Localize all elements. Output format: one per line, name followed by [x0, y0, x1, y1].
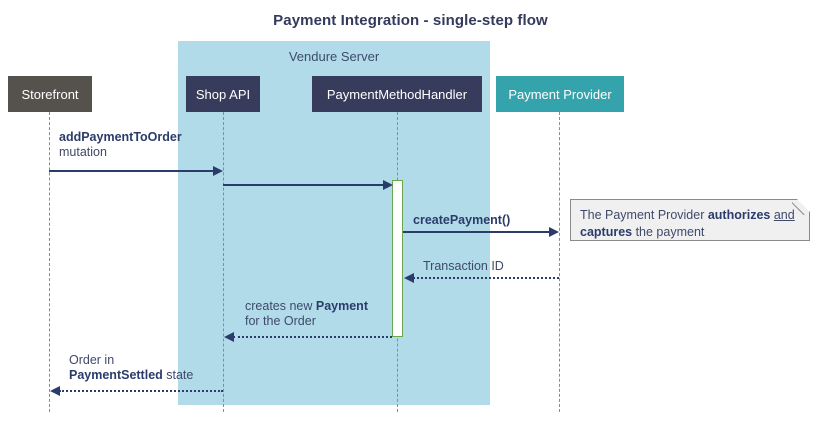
message-label-order-payment-settled: Order inPaymentSettled state — [69, 353, 193, 383]
message-label-line: addPaymentToOrder — [59, 130, 182, 145]
message-label-create-payment: createPayment() — [413, 213, 510, 228]
participant-label: Shop API — [196, 87, 250, 102]
message-line-shop-api-to-handler — [223, 184, 383, 186]
message-label-line: for the Order — [245, 314, 368, 329]
provider-authorizes-note: The Payment Provider authorizes and capt… — [570, 199, 810, 241]
note-text: The Payment Provider authorizes and capt… — [580, 207, 799, 241]
participant-payment-method-handler[interactable]: PaymentMethodHandler — [312, 76, 482, 112]
note-segment: captures — [580, 225, 632, 239]
label-segment: PaymentSettled — [69, 368, 163, 382]
participant-label: Storefront — [21, 87, 78, 102]
diagram-title: Payment Integration - single-step flow — [0, 12, 821, 29]
arrowhead-add-payment-to-order — [213, 166, 223, 176]
label-segment: for the Order — [245, 314, 316, 328]
message-label-line: PaymentSettled state — [69, 368, 193, 383]
lifeline-payment-provider — [559, 112, 560, 412]
participant-shop-api[interactable]: Shop API — [186, 76, 260, 112]
message-line-create-payment — [403, 231, 549, 233]
participant-label: PaymentMethodHandler — [327, 87, 467, 102]
arrowhead-creates-new-payment — [224, 332, 234, 342]
sequence-diagram: Vendure Server addPaymentToOrdermutation… — [0, 0, 821, 422]
message-line-creates-new-payment — [233, 336, 392, 338]
message-label-line: creates new Payment — [245, 299, 368, 314]
label-segment: mutation — [59, 145, 107, 159]
arrowhead-order-payment-settled — [50, 386, 60, 396]
participant-storefront[interactable]: Storefront — [8, 76, 92, 112]
message-label-creates-new-payment: creates new Paymentfor the Order — [245, 299, 368, 329]
message-line-add-payment-to-order — [49, 170, 213, 172]
lifeline-shop-api — [223, 112, 224, 412]
label-segment: Order in — [69, 353, 114, 367]
message-label-line: createPayment() — [413, 213, 510, 228]
label-segment: addPaymentToOrder — [59, 130, 182, 144]
label-segment: Transaction ID — [423, 259, 504, 273]
lifeline-storefront — [49, 112, 50, 412]
message-label-transaction-id: Transaction ID — [423, 259, 504, 274]
group-label-vendure-server: Vendure Server — [178, 49, 490, 64]
participant-payment-provider[interactable]: Payment Provider — [496, 76, 624, 112]
participant-label: Payment Provider — [508, 87, 611, 102]
label-segment: createPayment() — [413, 213, 510, 227]
message-line-order-payment-settled — [59, 390, 223, 392]
arrowhead-transaction-id — [404, 273, 414, 283]
message-line-transaction-id — [413, 277, 559, 279]
arrowhead-create-payment — [549, 227, 559, 237]
label-segment: creates new — [245, 299, 316, 313]
message-label-line: Transaction ID — [423, 259, 504, 274]
message-label-line: mutation — [59, 145, 182, 160]
note-segment: The Payment Provider — [580, 208, 708, 222]
note-segment: the payment — [632, 225, 704, 239]
message-label-line: Order in — [69, 353, 193, 368]
payment-method-handler-activation — [392, 180, 403, 337]
label-segment: state — [163, 368, 194, 382]
label-segment: Payment — [316, 299, 368, 313]
note-fold-edge-icon — [792, 199, 810, 217]
message-label-add-payment-to-order: addPaymentToOrdermutation — [59, 130, 182, 160]
note-segment: authorizes — [708, 208, 771, 222]
arrowhead-shop-api-to-handler — [383, 180, 393, 190]
